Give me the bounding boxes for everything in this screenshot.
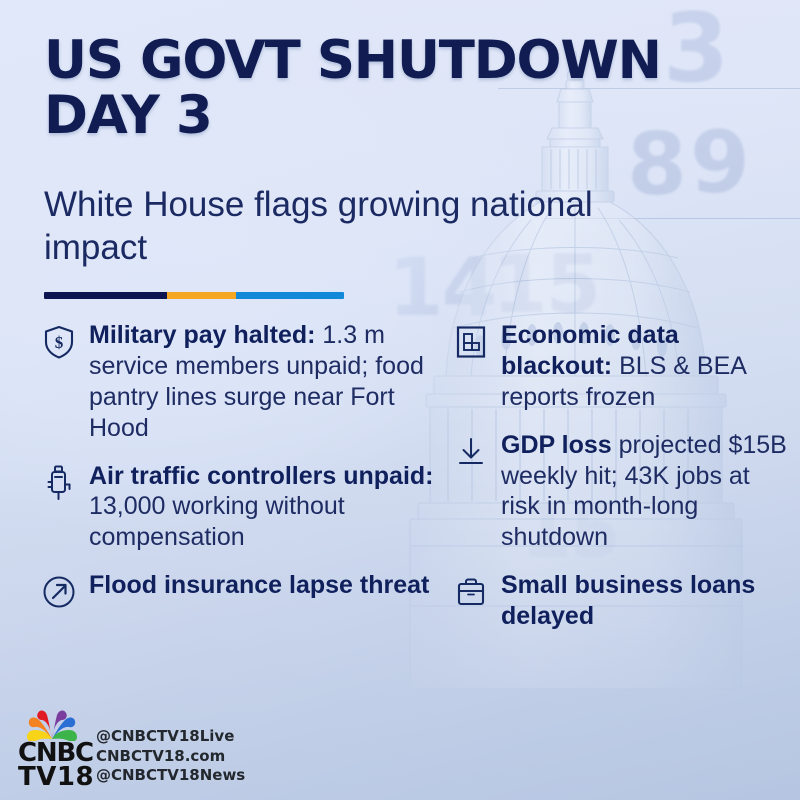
nbc-peacock-icon (20, 705, 84, 741)
arrow-up-right-circle-icon (40, 573, 78, 611)
list-item-body: 13,000 working without compensation (89, 492, 345, 551)
cnbc-wordmark-line2: TV18 (18, 766, 86, 790)
left-bullet-column: $ Military pay halted: 1.3 m service mem… (40, 320, 440, 628)
subtitle: White House flags growing national impac… (44, 183, 604, 270)
shield-dollar-icon: $ (40, 323, 78, 361)
website-url[interactable]: CNBCTV18.com (96, 747, 245, 766)
list-item-text: Small business loans delayed (501, 570, 788, 632)
list-item: Air traffic controllers unpaid: 13,000 w… (40, 461, 440, 554)
svg-text:$: $ (55, 333, 64, 352)
headline-line-1: US GOVT SHUTDOWN (44, 34, 744, 89)
list-item-text: Flood insurance lapse threat (89, 570, 429, 601)
list-item-text: Economic data blackout: BLS & BEA report… (501, 320, 788, 413)
list-item-lead: Flood insurance lapse threat (89, 571, 429, 599)
cnbc-wordmark: CNBC TV18 (18, 742, 86, 790)
accent-segment-orange (167, 292, 236, 299)
list-item-lead: Small business loans delayed (501, 571, 755, 630)
control-tower-icon (40, 464, 78, 502)
list-item: Flood insurance lapse threat (40, 570, 440, 611)
cnbc-logo: CNBC TV18 (18, 705, 86, 790)
footer-branding: CNBC TV18 @CNBCTV18Live CNBCTV18.com @CN… (18, 705, 245, 790)
list-item: $ Military pay halted: 1.3 m service mem… (40, 320, 440, 444)
accent-segment-blue (236, 292, 344, 299)
handle-news[interactable]: @CNBCTV18News (96, 766, 245, 785)
list-item: GDP loss projected $15B weekly hit; 43K … (452, 430, 788, 554)
accent-divider-bar (44, 292, 344, 299)
social-handles: @CNBCTV18Live CNBCTV18.com @CNBCTV18News (96, 727, 245, 790)
list-item-lead: GDP loss (501, 431, 612, 459)
infographic-canvas: 3 8 9 14 15 15 (0, 0, 800, 800)
list-item: Small business loans delayed (452, 570, 788, 632)
headline-line-2: DAY 3 (44, 89, 744, 144)
right-bullet-column: Economic data blackout: BLS & BEA report… (452, 320, 788, 649)
bar-chart-square-icon (452, 323, 490, 361)
content-layer: US GOVT SHUTDOWN DAY 3 White House flags… (0, 0, 800, 800)
list-item-text: GDP loss projected $15B weekly hit; 43K … (501, 430, 788, 554)
list-item-text: Air traffic controllers unpaid: 13,000 w… (89, 461, 440, 554)
handle-live[interactable]: @CNBCTV18Live (96, 727, 245, 746)
arrow-down-line-icon (452, 433, 490, 471)
page-title: US GOVT SHUTDOWN DAY 3 (44, 34, 744, 143)
briefcase-icon (452, 573, 490, 611)
accent-segment-navy (44, 292, 167, 299)
list-item: Economic data blackout: BLS & BEA report… (452, 320, 788, 413)
list-item-text: Military pay halted: 1.3 m service membe… (89, 320, 440, 444)
list-item-lead: Military pay halted: (89, 321, 315, 349)
list-item-lead: Air traffic controllers unpaid: (89, 462, 433, 490)
